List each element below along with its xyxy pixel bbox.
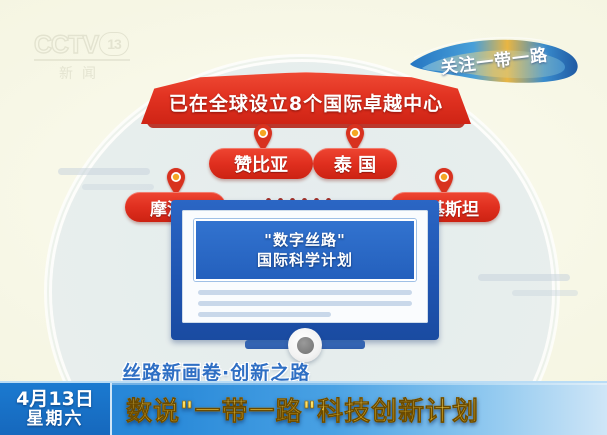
location-pill-zambia[interactable]: 赞比亚 xyxy=(209,148,313,179)
cctv-wordmark: CCTV13 xyxy=(34,32,146,58)
monitor-screen-title: "数字丝路" 国际科学计划 xyxy=(194,219,416,281)
monitor-frame: "数字丝路" 国际科学计划 xyxy=(171,200,439,340)
cctv-wordmark-text: CCTV xyxy=(34,31,98,59)
decor-line-right-1 xyxy=(478,274,570,281)
banner-headline: 数说"一带一路"科技创新计划 xyxy=(112,383,607,435)
date-text: 4月13日 xyxy=(16,389,94,410)
decor-line-left-1 xyxy=(58,168,150,175)
monitor-illustration: "数字丝路" 国际科学计划 xyxy=(171,200,439,348)
map-pin-icon-pakistan xyxy=(434,168,454,195)
cctv-channel-logo: CCTV13 新闻 xyxy=(34,32,146,80)
date-box: 4月13日 星期六 xyxy=(0,383,112,435)
map-pin-icon-morocco xyxy=(166,168,186,195)
placeholder-line xyxy=(198,301,412,306)
lower-third-banner: 4月13日 星期六 数说"一带一路"科技创新计划 xyxy=(0,381,607,435)
placeholder-line xyxy=(198,290,412,295)
monitor-title-line-1: "数字丝路" xyxy=(264,230,346,250)
weekday-text: 星期六 xyxy=(27,410,84,429)
broadcast-frame: CCTV13 新闻 xyxy=(0,0,607,435)
cctv-sub-label: 新闻 xyxy=(34,63,130,83)
map-pin-icon-thailand xyxy=(345,124,365,151)
location-pill-thailand[interactable]: 泰 国 xyxy=(313,148,397,179)
decor-line-right-2 xyxy=(512,290,578,296)
headline-arch-banner: 已在全球设立8个国际卓越中心 xyxy=(141,72,471,132)
cctv-channel-number: 13 xyxy=(99,32,129,56)
monitor-placeholder-lines xyxy=(198,290,412,317)
monitor-title-line-2: 国际科学计划 xyxy=(257,250,353,270)
map-pin-icon-zambia xyxy=(253,124,273,151)
monitor-screen: "数字丝路" 国际科学计划 xyxy=(182,210,428,323)
arch-banner-label: 已在全球设立8个国际卓越中心 xyxy=(141,72,471,124)
decor-line-left-2 xyxy=(82,184,154,190)
monitor-stand-knob xyxy=(288,328,322,362)
placeholder-line xyxy=(198,312,331,317)
cctv-underline xyxy=(34,59,130,61)
